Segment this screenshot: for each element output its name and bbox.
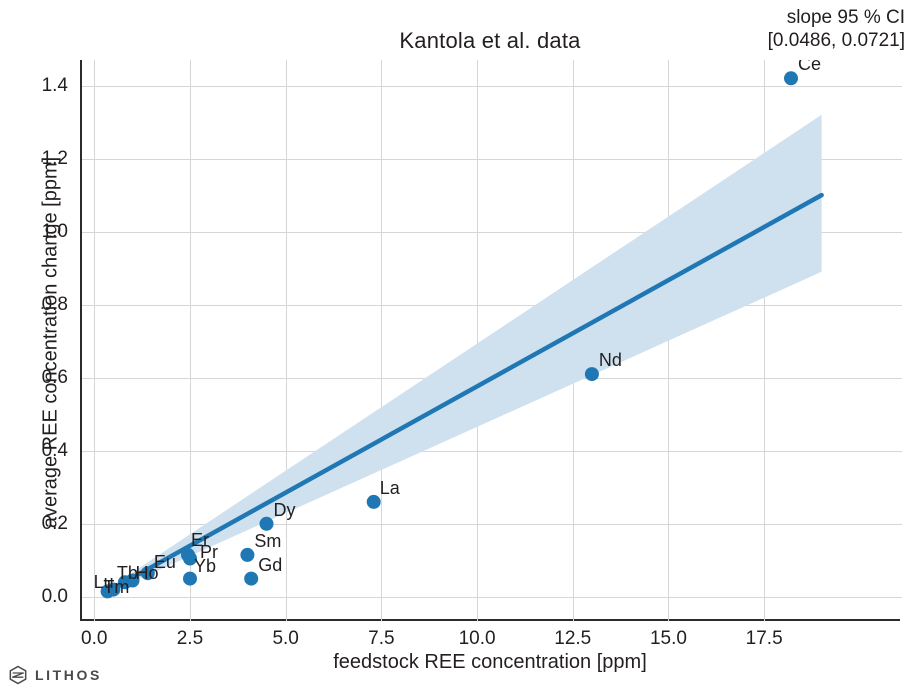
scatter-point[interactable] — [367, 495, 381, 509]
scatter-point-label: Gd — [258, 555, 282, 576]
y-tick-label: 0.0 — [8, 586, 68, 608]
scatter-point-label: Sm — [254, 531, 281, 552]
x-tick-label: 17.5 — [729, 628, 799, 650]
x-tick-label: 15.0 — [633, 628, 703, 650]
chart-figure: slope 95 % CI [0.0486, 0.0721] Kantola e… — [0, 0, 913, 693]
x-tick-label: 5.0 — [251, 628, 321, 650]
plot-area: LuTmTbHoEuErPrYbSmGdDyLaNdCe 0.00.20.40.… — [80, 60, 900, 621]
page-title: Kantola et al. data — [80, 28, 900, 54]
x-tick-label: 2.5 — [155, 628, 225, 650]
x-tick-label: 12.5 — [538, 628, 608, 650]
regression-line — [106, 195, 822, 592]
scatter-point-label: Dy — [274, 500, 296, 521]
scatter-point[interactable] — [260, 517, 274, 531]
scatter-point-label: Yb — [194, 556, 216, 577]
y-tick-label: 0.2 — [8, 513, 68, 535]
x-axis-label: feedstock REE concentration [ppm] — [80, 651, 900, 674]
scatter-point[interactable] — [784, 71, 798, 85]
scatter-point[interactable] — [240, 548, 254, 562]
y-tick-label: 1.4 — [8, 75, 68, 97]
scatter-markers — [101, 71, 798, 598]
x-tick-label: 7.5 — [346, 628, 416, 650]
logo-text: LITHOS — [35, 667, 102, 683]
scatter-point-label: Nd — [599, 350, 622, 371]
confidence-band — [106, 115, 822, 594]
y-tick-label: 0.8 — [8, 294, 68, 316]
hexagon-logo-icon — [8, 665, 28, 685]
plot-inner: LuTmTbHoEuErPrYbSmGdDyLaNdCe — [82, 60, 902, 621]
scatter-point[interactable] — [585, 367, 599, 381]
lithos-logo: LITHOS — [8, 665, 102, 685]
x-tick-label: 10.0 — [442, 628, 512, 650]
y-axis-label: average REE concentration change [ppm] — [40, 63, 63, 623]
y-tick-label: 1.0 — [8, 221, 68, 243]
y-tick-label: 0.6 — [8, 367, 68, 389]
y-tick-label: 0.4 — [8, 440, 68, 462]
scatter-point[interactable] — [244, 572, 258, 586]
scatter-point-label: Ce — [798, 60, 821, 75]
x-tick-label: 0.0 — [59, 628, 129, 650]
scatter-point-label: La — [380, 478, 400, 499]
scatter-point-label: Eu — [154, 552, 176, 573]
y-tick-label: 1.2 — [8, 148, 68, 170]
slope-ci-label: slope 95 % CI — [768, 6, 905, 29]
